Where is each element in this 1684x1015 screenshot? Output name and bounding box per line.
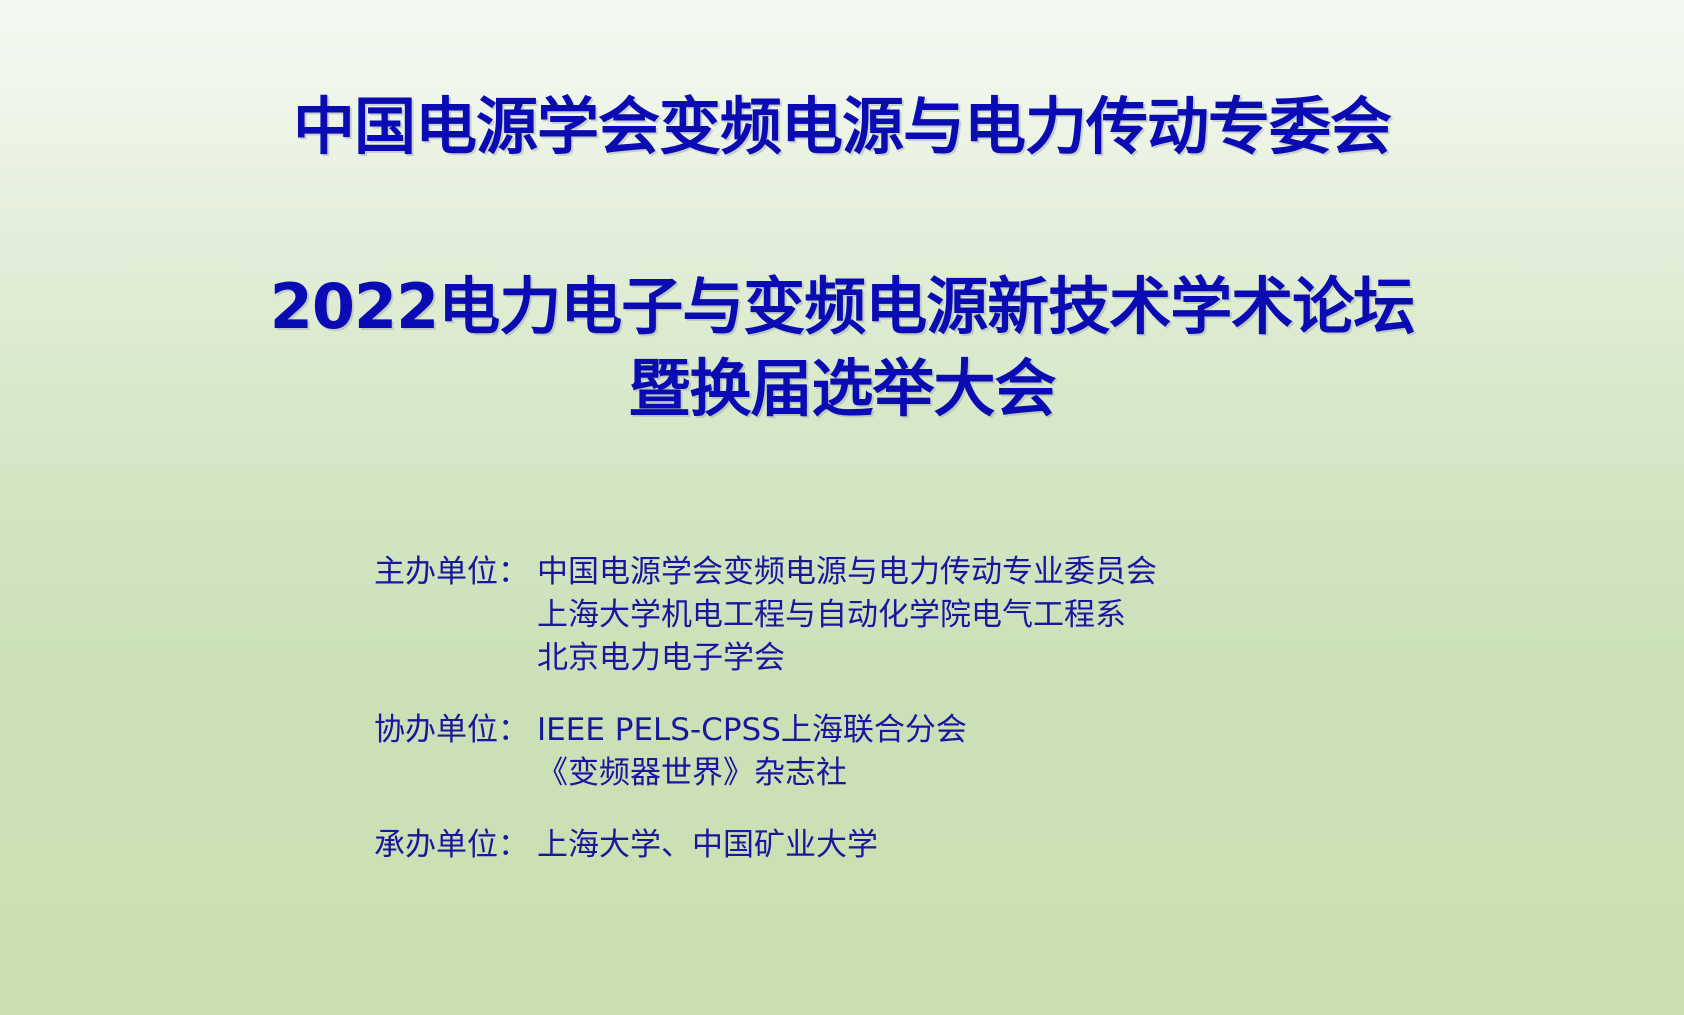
credit-group-host: 承办单位：上海大学、中国矿业大学	[374, 824, 1494, 867]
credit-label-host: 承办单位：	[374, 824, 537, 867]
credit-row: 承办单位：上海大学、中国矿业大学	[374, 824, 1494, 867]
credit-group-organizer: 主办单位：中国电源学会变频电源与电力传动专业委员会上海大学机电工程与自动化学院电…	[374, 551, 1494, 680]
forum-title-line-2: 暨换届选举大会	[0, 348, 1684, 430]
credit-label-coorganizer: 协办单位：	[374, 709, 537, 752]
forum-title: 2022电力电子与变频电源新技术学术论坛 暨换届选举大会	[0, 266, 1684, 430]
credit-row: 协办单位：IEEE PELS-CPSS上海联合分会《变频器世界》杂志社	[374, 709, 1494, 795]
credit-row: 主办单位：中国电源学会变频电源与电力传动专业委员会上海大学机电工程与自动化学院电…	[374, 551, 1494, 680]
credit-group-coorganizer: 协办单位：IEEE PELS-CPSS上海联合分会《变频器世界》杂志社	[374, 709, 1494, 795]
credit-values-organizer: 中国电源学会变频电源与电力传动专业委员会上海大学机电工程与自动化学院电气工程系北…	[537, 551, 1157, 680]
credit-values-host: 上海大学、中国矿业大学	[537, 824, 878, 867]
committee-title: 中国电源学会变频电源与电力传动专委会	[0, 96, 1684, 158]
credits-block: 主办单位：中国电源学会变频电源与电力传动专业委员会上海大学机电工程与自动化学院电…	[374, 551, 1494, 867]
credit-values-coorganizer: IEEE PELS-CPSS上海联合分会《变频器世界》杂志社	[537, 709, 967, 795]
credit-label-organizer: 主办单位：	[374, 551, 537, 594]
title-slide: 中国电源学会变频电源与电力传动专委会 2022电力电子与变频电源新技术学术论坛 …	[0, 0, 1684, 1015]
credit-value: 中国电源学会变频电源与电力传动专业委员会	[537, 551, 1157, 594]
credit-value: IEEE PELS-CPSS上海联合分会	[537, 709, 967, 752]
forum-title-line-1: 2022电力电子与变频电源新技术学术论坛	[0, 266, 1684, 348]
credit-value: 上海大学、中国矿业大学	[537, 824, 878, 867]
credit-value: 北京电力电子学会	[537, 637, 1157, 680]
credit-value: 《变频器世界》杂志社	[537, 752, 967, 795]
credit-value: 上海大学机电工程与自动化学院电气工程系	[537, 594, 1157, 637]
